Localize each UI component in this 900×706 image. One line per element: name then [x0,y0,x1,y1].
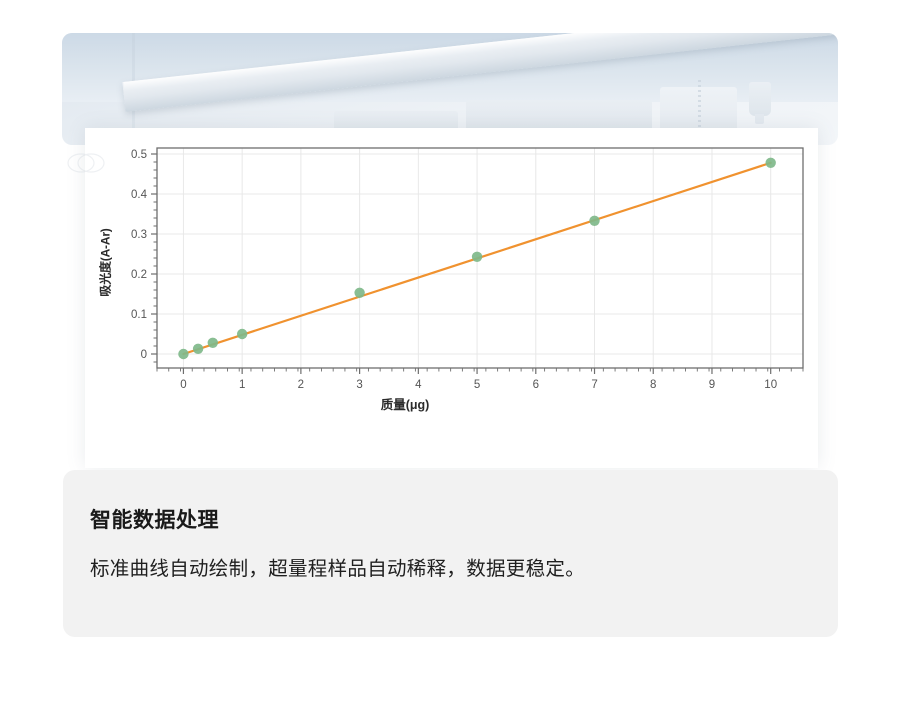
svg-text:5: 5 [474,379,480,391]
plot-svg: 00.10.20.30.40.5 012345678910 [85,128,818,468]
svg-text:10: 10 [764,379,777,391]
standard-curve-plot: 吸光度(A-Ar) 质量(μg) 00.10.20.30.40.5 012345… [85,128,818,468]
feature-title: 智能数据处理 [90,504,219,534]
svg-text:7: 7 [591,379,597,391]
svg-text:0.5: 0.5 [131,149,147,161]
svg-text:4: 4 [415,379,422,391]
hero-sensor-module [749,82,771,116]
svg-text:2: 2 [298,379,304,391]
svg-text:8: 8 [650,379,656,391]
svg-text:0.2: 0.2 [131,269,147,281]
chart-card: 吸光度(A-Ar) 质量(μg) 00.10.20.30.40.5 012345… [85,128,818,468]
svg-text:0: 0 [180,379,186,391]
page-root: 吸光度(A-Ar) 质量(μg) 00.10.20.30.40.5 012345… [0,0,900,706]
svg-text:6: 6 [533,379,539,391]
x-axis-ticks: 012345678910 [157,368,803,391]
svg-text:0.1: 0.1 [131,309,147,321]
feature-description: 标准曲线自动绘制，超量程样品自动稀释，数据更稳定。 [90,552,585,581]
svg-text:3: 3 [356,379,362,391]
y-axis-ticks: 00.10.20.30.40.5 [131,149,157,362]
svg-text:0.3: 0.3 [131,229,147,241]
svg-text:0: 0 [141,349,147,361]
feature-card: 智能数据处理 标准曲线自动绘制，超量程样品自动稀释，数据更稳定。 [63,470,838,637]
svg-text:1: 1 [239,379,245,391]
svg-text:0.4: 0.4 [131,189,148,201]
svg-text:9: 9 [709,379,715,391]
